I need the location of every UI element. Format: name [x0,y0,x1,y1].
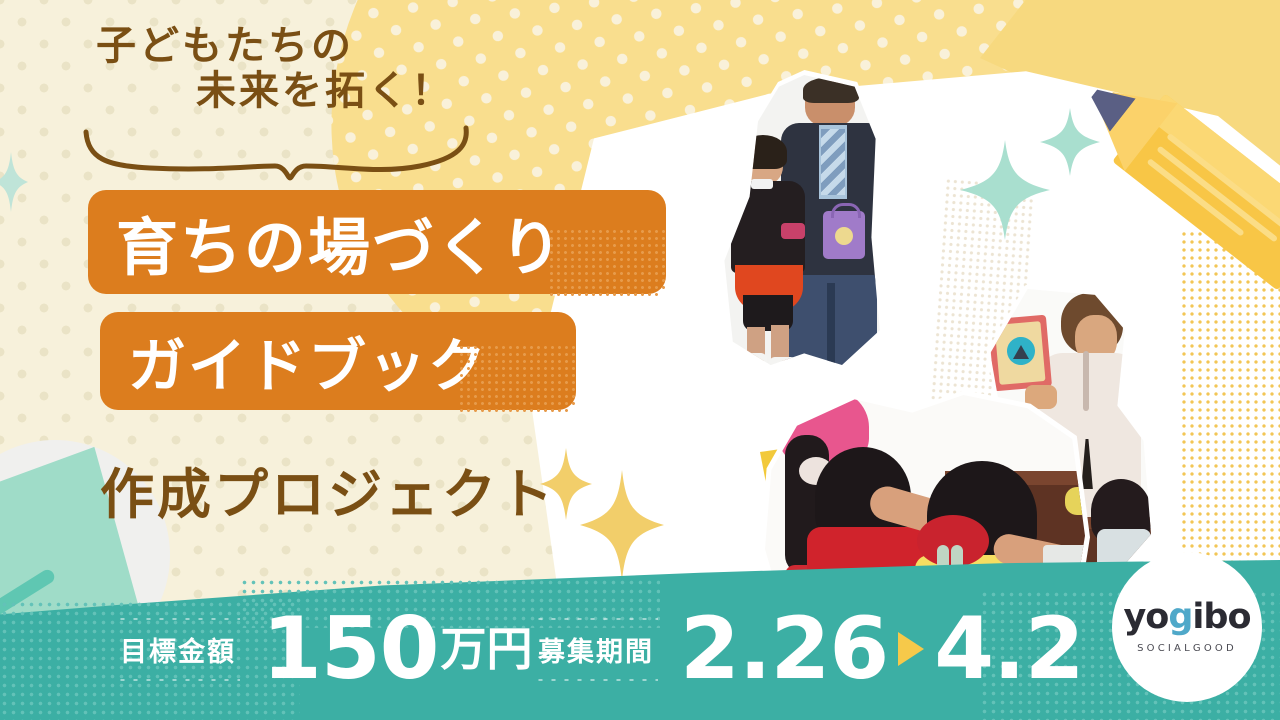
goal-amount-unit: 万円 [441,626,533,672]
yellow-sparkle-large-icon [580,470,664,580]
goal-amount-label: 目標金額 [116,617,240,682]
period-start-date: 2.26 [680,606,888,692]
lede-line-1: 子どもたちの [96,24,556,69]
subtitle-text: 作成プロジェクト [100,450,556,529]
yogibo-socialgood-logo: yogibo SOCIALGOOD [1112,552,1262,702]
band-grain-texture [458,344,578,414]
lede-line-2: 未来を拓く！ [196,69,556,114]
title-band-primary-text: 育ちの場づくり [116,197,564,287]
band-grain-texture [548,228,668,298]
mint-sparkle-edge-icon [0,152,28,212]
logo-wordmark: yogibo [1123,600,1250,635]
logo-word-g: g [1168,597,1192,637]
lede-text: 子どもたちの 未来を拓く！ [96,24,556,114]
period-arrow-icon [898,632,924,666]
logo-tagline: SOCIALGOOD [1137,643,1237,654]
period-end-date: 4.2 [934,606,1083,692]
goal-amount-stat: 目標金額 150 万円 [116,606,533,692]
poster-canvas: 子どもたちの 未来を拓く！ 育ちの場づくり ガイドブック 作成プロジェクト 目標… [0,0,1280,720]
logo-word-part2: ibo [1192,597,1250,637]
logo-word-part1: yo [1123,597,1168,637]
mint-sparkle-small-icon [1040,108,1100,176]
mint-sparkle-large-icon [960,140,1050,240]
goal-amount-value: 150 [262,606,439,692]
title-band-primary: 育ちの場づくり [88,190,666,294]
title-band-secondary-text: ガイドブック [128,319,488,403]
title-band-secondary: ガイドブック [100,312,576,410]
brace-underline-icon [80,122,500,182]
period-stat: 募集期間 2.26 4.2 [534,606,1084,692]
period-label: 募集期間 [534,617,658,682]
